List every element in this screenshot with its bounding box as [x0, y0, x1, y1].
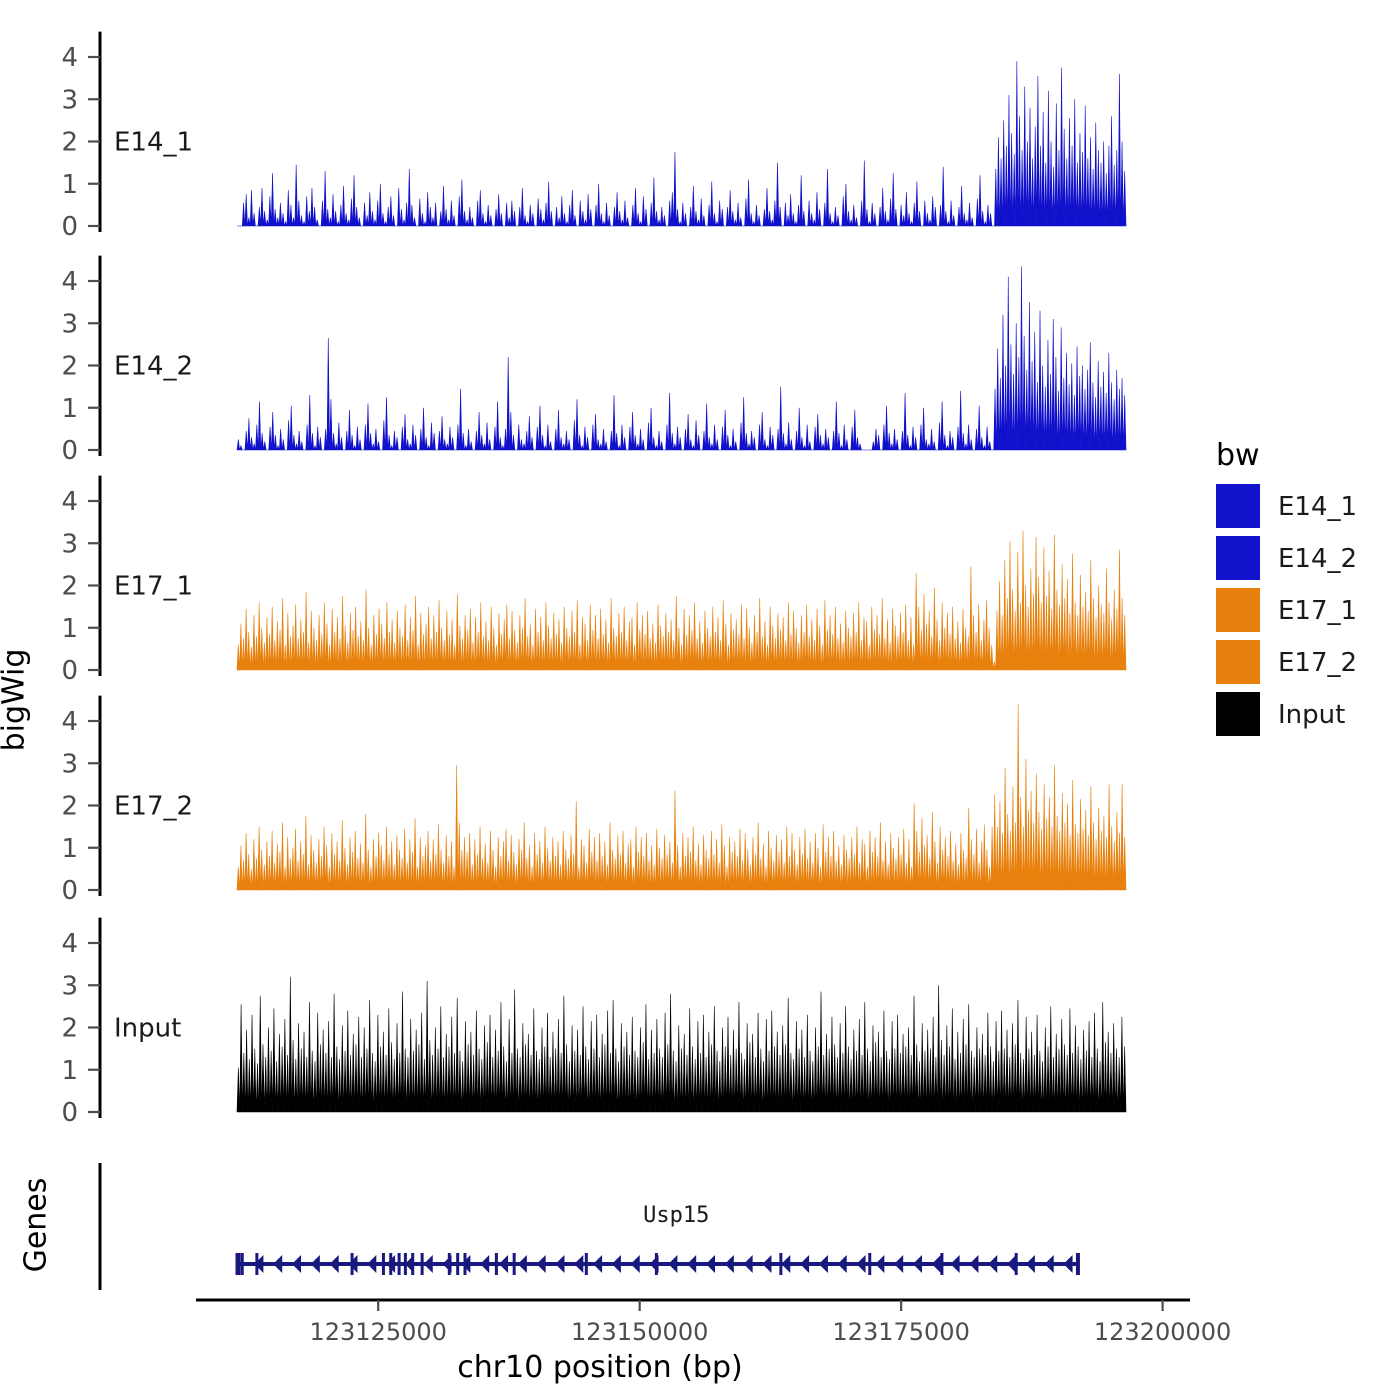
gene-strand-arrow — [857, 1255, 866, 1273]
gene-strand-arrow — [480, 1255, 489, 1273]
gene-strand-arrow — [593, 1255, 602, 1273]
gene-strand-arrow — [1026, 1255, 1035, 1273]
gene-strand-arrow — [781, 1255, 790, 1273]
plot-canvas: 01234E14_101234E14_201234E17_101234E17_2… — [0, 0, 1400, 1400]
gene-strand-arrow — [424, 1255, 433, 1273]
legend-swatch-E14_2[interactable] — [1216, 536, 1260, 580]
track-area-E14_1 — [237, 61, 1126, 226]
y-tick-label-E17_1-1: 1 — [61, 614, 78, 644]
gene-strand-arrow — [969, 1255, 978, 1273]
y-tick-label-E14_1-4: 4 — [61, 43, 78, 73]
track-strip-label-E17_2: E17_2 — [114, 792, 193, 822]
legend-label-E17_1: E17_1 — [1278, 596, 1357, 626]
y-tick-label-Input-4: 4 — [61, 929, 78, 959]
gene-strand-arrow — [913, 1255, 922, 1273]
x-tick-label-123150000: 123150000 — [571, 1318, 708, 1346]
track-strip-label-E14_2: E14_2 — [114, 352, 193, 382]
y-tick-label-Input-2: 2 — [61, 1014, 78, 1044]
gene-strand-arrow — [838, 1255, 847, 1273]
legend-label-E14_2: E14_2 — [1278, 544, 1357, 574]
gene-strand-arrow — [819, 1255, 828, 1273]
y-tick-label-E17_2-1: 1 — [61, 834, 78, 864]
gene-name-label: Usp15 — [643, 1203, 709, 1228]
legend-swatch-E14_1[interactable] — [1216, 484, 1260, 528]
y-tick-label-E17_1-3: 3 — [61, 529, 78, 559]
legend-swatch-E17_2[interactable] — [1216, 640, 1260, 684]
y-tick-label-E17_2-4: 4 — [61, 707, 78, 737]
gene-strand-arrow — [292, 1255, 301, 1273]
y-tick-label-E14_1-1: 1 — [61, 170, 78, 200]
track-area-E17_2 — [237, 704, 1126, 890]
gene-strand-arrow — [725, 1255, 734, 1273]
legend-swatch-E17_1[interactable] — [1216, 588, 1260, 632]
legend-title: bw — [1216, 438, 1260, 473]
y-tick-label-E14_1-3: 3 — [61, 85, 78, 115]
y-tick-label-E14_2-0: 0 — [61, 436, 78, 466]
gene-strand-arrow — [762, 1255, 771, 1273]
gene-strand-arrow — [744, 1255, 753, 1273]
y-tick-label-E17_1-2: 2 — [61, 572, 78, 602]
y-tick-label-E14_2-3: 3 — [61, 309, 78, 339]
gene-strand-arrow — [706, 1255, 715, 1273]
gene-strand-arrow — [330, 1255, 339, 1273]
gene-strand-arrow — [800, 1255, 809, 1273]
gene-strand-arrow — [951, 1255, 960, 1273]
y-tick-label-E17_2-0: 0 — [61, 876, 78, 906]
y-tick-label-E17_2-3: 3 — [61, 749, 78, 779]
track-strip-label-E14_1: E14_1 — [114, 128, 193, 158]
y-tick-label-E14_1-2: 2 — [61, 128, 78, 158]
gene-strand-arrow — [988, 1255, 997, 1273]
gene-strand-arrow — [612, 1255, 621, 1273]
gene-strand-arrow — [367, 1255, 376, 1273]
gene-strand-arrow — [273, 1255, 282, 1273]
y-tick-label-E14_2-4: 4 — [61, 267, 78, 297]
y-tick-label-Input-0: 0 — [61, 1098, 78, 1128]
gene-strand-arrow — [499, 1255, 508, 1273]
gene-strand-arrow — [894, 1255, 903, 1273]
gene-strand-arrow — [875, 1255, 884, 1273]
gene-strand-arrow — [1064, 1255, 1073, 1273]
y-tick-label-Input-3: 3 — [61, 971, 78, 1001]
y-tick-label-E17_2-2: 2 — [61, 792, 78, 822]
gene-strand-arrow — [537, 1255, 546, 1273]
track-area-Input — [237, 977, 1126, 1112]
track-strip-label-E17_1: E17_1 — [114, 572, 193, 602]
y-tick-label-E14_2-2: 2 — [61, 352, 78, 382]
track-area-E17_1 — [237, 531, 1126, 670]
gene-strand-arrow — [555, 1255, 564, 1273]
gene-strand-arrow — [932, 1255, 941, 1273]
genome-browser-figure: bigWig Genes chr10 position (bp) 01234E1… — [0, 0, 1400, 1400]
legend-label-Input: Input — [1278, 700, 1345, 730]
y-tick-label-E14_2-1: 1 — [61, 394, 78, 424]
x-tick-label-123175000: 123175000 — [832, 1318, 969, 1346]
y-tick-label-E17_1-4: 4 — [61, 487, 78, 517]
gene-strand-arrow — [311, 1255, 320, 1273]
legend-label-E14_1: E14_1 — [1278, 492, 1357, 522]
track-strip-label-Input: Input — [114, 1014, 181, 1044]
legend-label-E17_2: E17_2 — [1278, 648, 1357, 678]
legend-swatch-Input[interactable] — [1216, 692, 1260, 736]
y-tick-label-Input-1: 1 — [61, 1056, 78, 1086]
y-tick-label-E14_1-0: 0 — [61, 212, 78, 242]
gene-strand-arrow — [518, 1255, 527, 1273]
gene-strand-arrow — [574, 1255, 583, 1273]
track-area-E14_2 — [237, 266, 1126, 450]
gene-strand-arrow — [687, 1255, 696, 1273]
x-tick-label-123200000: 123200000 — [1094, 1318, 1231, 1346]
gene-strand-arrow — [1045, 1255, 1054, 1273]
gene-strand-arrow — [631, 1255, 640, 1273]
y-tick-label-E17_1-0: 0 — [61, 656, 78, 686]
x-tick-label-123125000: 123125000 — [309, 1318, 446, 1346]
gene-strand-arrow — [668, 1255, 677, 1273]
